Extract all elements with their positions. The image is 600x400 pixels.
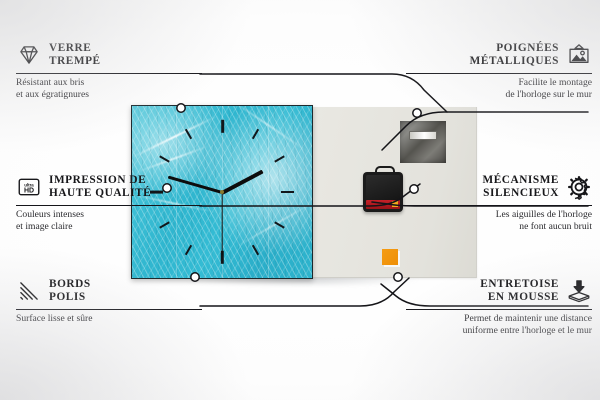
feature-title-line1: VERRE [49, 42, 101, 55]
svg-text:HD: HD [24, 188, 34, 195]
feature-desc-line2: uniforme entre l'horloge et le mur [406, 325, 592, 337]
mechanism-body [366, 175, 400, 200]
feature-title-line1: POIGNÉES [470, 42, 559, 55]
battery [366, 200, 400, 209]
feature-title-line2: MÉTALLIQUES [470, 55, 559, 68]
feature-desc-line1: Couleurs intenses [16, 209, 202, 221]
feature-rule [16, 309, 202, 311]
feature-desc-line2: et aux égratignures [16, 89, 202, 101]
feature-title-line1: BORDS [49, 278, 91, 291]
picture-frame-icon [566, 42, 592, 68]
metal-hanger-plate [400, 121, 446, 163]
feature-desc-line2: ne font aucun bruit [406, 221, 592, 233]
feature-title-line1: MÉCANISME [483, 174, 560, 187]
feature-title-line2: EN MOUSSE [480, 291, 559, 304]
feature-rule [406, 309, 592, 311]
infographic-canvas: VERRE TREMPÉ Résistant aux bris et aux é… [0, 0, 600, 400]
feature-bords-polis: BORDS POLIS Surface lisse et sûre [16, 278, 202, 325]
polished-edges-icon [16, 278, 42, 304]
ultra-hd-icon: ultra HD [16, 174, 42, 200]
feature-desc-line1: Facilite le montage [406, 77, 592, 89]
feature-desc-line1: Résistant aux bris [16, 77, 202, 89]
feature-title-line2: SILENCIEUX [483, 187, 560, 200]
feature-desc-line2: de l'horloge sur le mur [406, 89, 592, 101]
feature-poignees-metalliques: POIGNÉES MÉTALLIQUES Facilite le montage… [406, 42, 592, 101]
glass-seam [268, 106, 269, 278]
feature-desc-line1: Permet de maintenir une distance [406, 313, 592, 325]
feature-title-line1: IMPRESSION DE [49, 174, 151, 187]
feature-impression-haute-qualite: ultra HD IMPRESSION DE HAUTE QUALITÉ Cou… [16, 174, 202, 233]
feature-rule [16, 73, 202, 75]
feature-title-line2: TREMPÉ [49, 55, 101, 68]
feature-title-line1: ENTRETOISE [480, 278, 559, 291]
feature-title-line2: HAUTE QUALITÉ [49, 187, 151, 200]
hanger-slot [409, 131, 437, 140]
feature-rule [16, 205, 202, 207]
feature-verre-trempe: VERRE TREMPÉ Résistant aux bris et aux é… [16, 42, 202, 101]
feature-desc-line2: et image claire [16, 221, 202, 233]
feature-desc-line1: Les aiguilles de l'horloge [406, 209, 592, 221]
foam-spacer-icon [566, 278, 592, 304]
feature-rule [406, 205, 592, 207]
clock-tick [281, 191, 294, 194]
feature-title-line2: POLIS [49, 291, 91, 304]
foam-spacer [382, 249, 398, 265]
clock-tick [221, 120, 224, 133]
clock-second-hand [221, 193, 222, 255]
feature-entretoise-en-mousse: ENTRETOISE EN MOUSSE Permet de maintenir… [406, 278, 592, 337]
gear-icon [566, 174, 592, 200]
feature-mecanisme-silencieux: MÉCANISME SILENCIEUX [406, 174, 592, 233]
quartz-mechanism [363, 172, 403, 212]
battery-terminal [392, 201, 398, 207]
feature-rule [406, 73, 592, 75]
diamond-icon [16, 42, 42, 68]
clock-center-pivot [220, 190, 224, 194]
feature-desc-line1: Surface lisse et sûre [16, 313, 202, 325]
